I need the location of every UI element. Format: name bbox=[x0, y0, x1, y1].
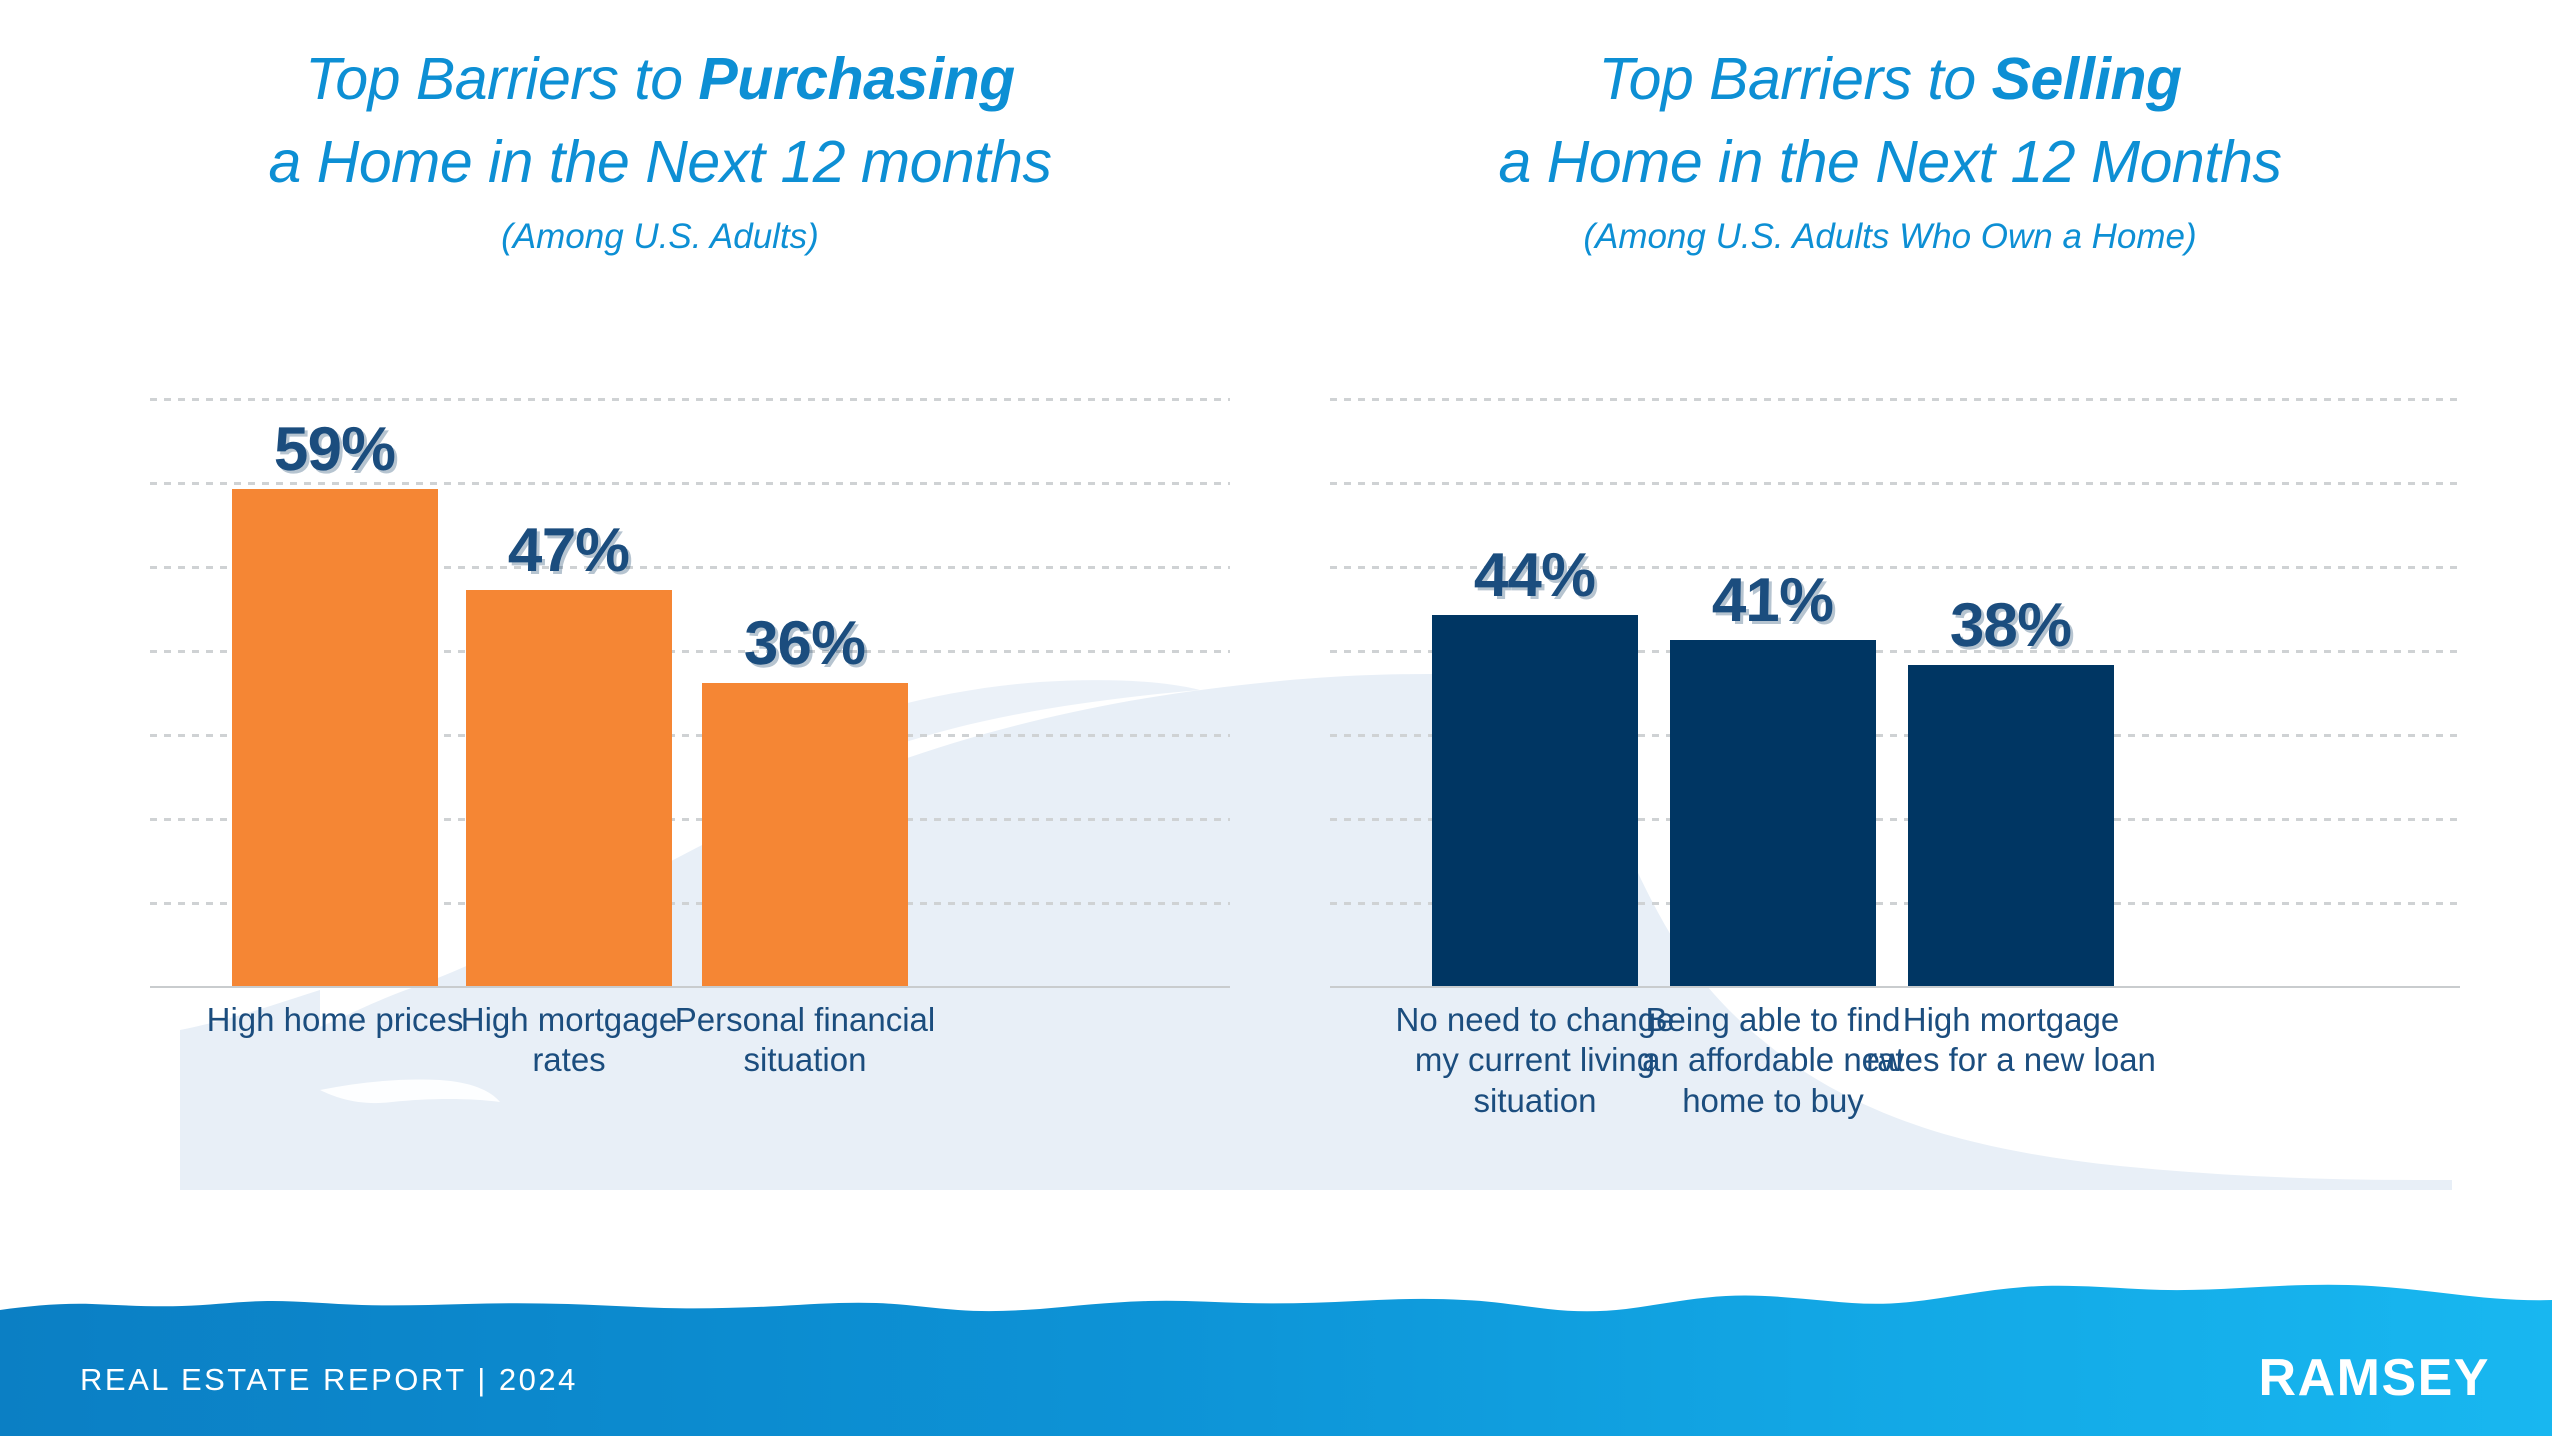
bar-value-label: 44% bbox=[1474, 545, 1596, 607]
bar-high-home-prices[interactable] bbox=[232, 489, 438, 986]
bar-value-label: 47% bbox=[508, 520, 630, 582]
left-title-bold: Purchasing bbox=[698, 46, 1014, 112]
right-title-line-1: Top Barriers to Selling bbox=[1350, 50, 2430, 109]
left-chart-axis-line bbox=[150, 986, 1230, 988]
footer-report-label: REAL ESTATE REPORT | 2024 bbox=[80, 1362, 578, 1398]
bar-slot-high-mortgage-rates[interactable]: 47% bbox=[466, 398, 672, 986]
category-line: home to buy bbox=[1608, 1081, 1938, 1121]
left-title-line-1: Top Barriers to Purchasing bbox=[120, 50, 1200, 109]
category-line: rates for a new loan bbox=[1846, 1040, 2176, 1080]
category-label-high-mortgage-rates-new-loan: High mortgage rates for a new loan bbox=[1846, 1000, 2176, 1081]
category-line: High mortgage bbox=[1846, 1000, 2176, 1040]
right-chart-subtitle: (Among U.S. Adults Who Own a Home) bbox=[1350, 218, 2430, 257]
bar-personal-financial-situation[interactable] bbox=[702, 683, 908, 986]
bar-slot-affordable-new-home[interactable]: 41% bbox=[1670, 398, 1876, 986]
bar-high-mortgage-rates-new-loan[interactable] bbox=[1908, 665, 2114, 986]
bar-value-label: 59% bbox=[274, 419, 396, 481]
category-label-personal-financial-situation: Personal financial situation bbox=[650, 1000, 960, 1081]
right-title-plain: Top Barriers to bbox=[1598, 46, 1991, 112]
right-title-line-2: a Home in the Next 12 Months bbox=[1350, 133, 2430, 192]
bar-no-need-to-change[interactable] bbox=[1432, 615, 1638, 986]
left-bar-chart-plot: 59% 47% 36% bbox=[150, 398, 1230, 988]
bar-affordable-new-home[interactable] bbox=[1670, 640, 1876, 986]
right-bar-chart-plot: 44% 41% 38% bbox=[1330, 398, 2460, 988]
bar-value-label: 41% bbox=[1712, 570, 1834, 632]
category-line: situation bbox=[650, 1040, 960, 1080]
bar-slot-no-need-to-change[interactable]: 44% bbox=[1432, 398, 1638, 986]
left-title-line-2: a Home in the Next 12 months bbox=[120, 133, 1200, 192]
bar-value-label: 36% bbox=[744, 613, 866, 675]
bar-value-label: 38% bbox=[1950, 595, 2072, 657]
category-line: Personal financial bbox=[650, 1000, 960, 1040]
right-chart-axis-line bbox=[1330, 986, 2460, 988]
bar-slot-personal-financial-situation[interactable]: 36% bbox=[702, 398, 908, 986]
left-chart-subtitle: (Among U.S. Adults) bbox=[120, 218, 1200, 257]
right-chart-bars: 44% 41% 38% bbox=[1330, 398, 2460, 986]
left-chart-title-block: Top Barriers to Purchasing a Home in the… bbox=[120, 50, 1200, 257]
right-chart-title-block: Top Barriers to Selling a Home in the Ne… bbox=[1350, 50, 2430, 257]
right-title-bold: Selling bbox=[1992, 46, 2182, 112]
footer-wave-shape bbox=[0, 1276, 2552, 1436]
ramsey-logo: RAMSEY bbox=[2259, 1348, 2490, 1408]
bar-slot-high-home-prices[interactable]: 59% bbox=[232, 398, 438, 986]
bar-slot-high-mortgage-rates-new-loan[interactable]: 38% bbox=[1908, 398, 2114, 986]
left-title-plain: Top Barriers to bbox=[305, 46, 698, 112]
infographic-canvas: Top Barriers to Purchasing a Home in the… bbox=[0, 0, 2552, 1436]
bar-high-mortgage-rates[interactable] bbox=[466, 590, 672, 986]
footer-banner: REAL ESTATE REPORT | 2024 RAMSEY bbox=[0, 1276, 2552, 1436]
left-chart-bars: 59% 47% 36% bbox=[150, 398, 1230, 986]
